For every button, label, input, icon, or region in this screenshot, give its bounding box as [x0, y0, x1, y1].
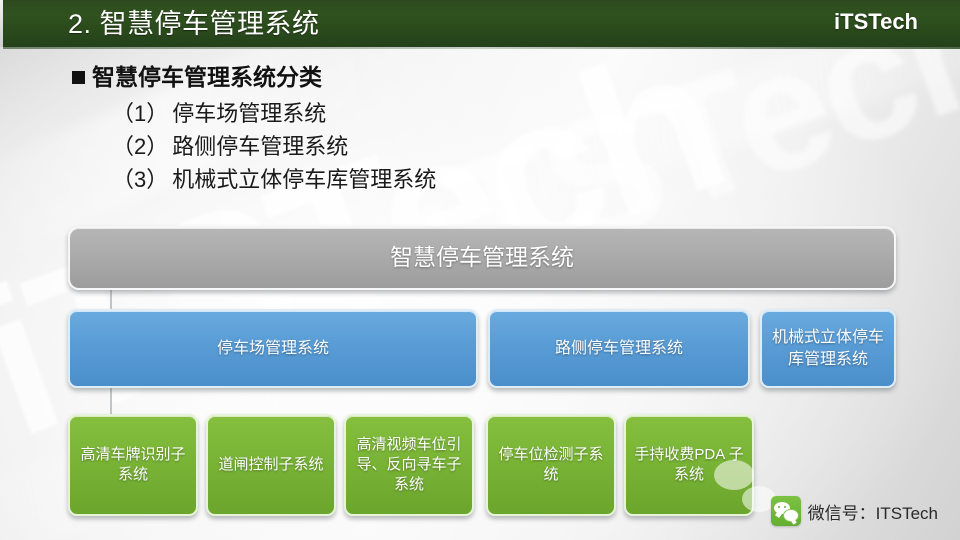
- diagram-node-roadside[interactable]: 路侧停车管理系统: [488, 309, 750, 388]
- connector-line: [110, 290, 112, 309]
- diagram-node-handheld-pda[interactable]: 手持收费PDA 子系统: [624, 414, 754, 516]
- wechat-id-label: 微信号：ITSTech: [808, 499, 938, 524]
- diagram-node-video-guidance[interactable]: 高清视频车位引导、反向寻车子系统: [344, 414, 474, 516]
- diagram-node-parking-lot[interactable]: 停车场管理系统: [68, 309, 478, 388]
- hierarchy-diagram: 智慧停车管理系统 停车场管理系统 路侧停车管理系统 机械式立体停车库管理系统 高…: [0, 0, 960, 540]
- slide-canvas: iTSTech iTSTech 2. 智慧停车管理系统 iTSTech 智慧停车…: [0, 0, 960, 540]
- connector-line: [110, 388, 112, 414]
- diagram-node-space-detection[interactable]: 停车位检测子系统: [486, 414, 616, 516]
- diagram-node-root[interactable]: 智慧停车管理系统: [68, 226, 896, 290]
- diagram-node-plate-recognition[interactable]: 高清车牌识别子系统: [68, 414, 198, 516]
- diagram-node-mechanical[interactable]: 机械式立体停车库管理系统: [760, 309, 896, 388]
- wechat-footer: 微信号：ITSTech: [771, 496, 938, 526]
- wechat-icon: [771, 496, 801, 526]
- diagram-node-barrier-control[interactable]: 道闸控制子系统: [206, 414, 336, 516]
